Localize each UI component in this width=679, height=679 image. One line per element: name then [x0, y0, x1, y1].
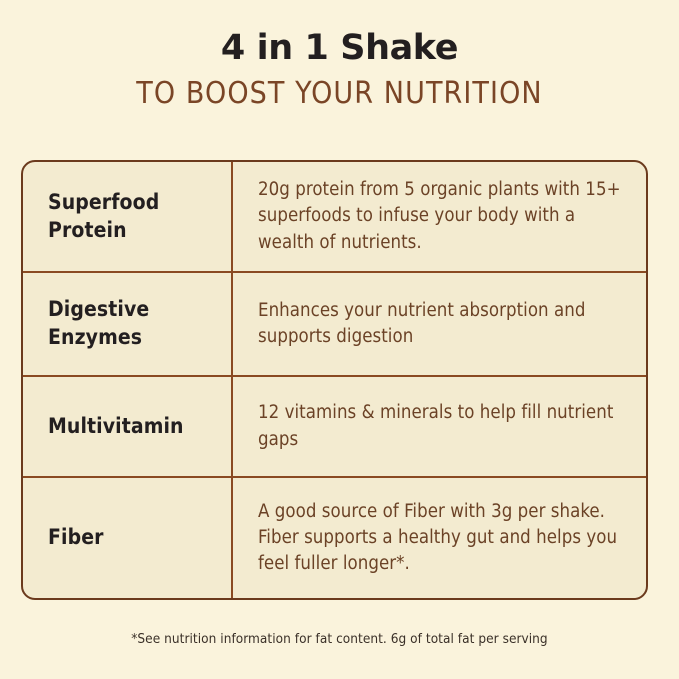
table-cell-label: Multivitamin	[23, 377, 233, 476]
table-row: DigestiveEnzymes Enhances your nutrient …	[23, 273, 646, 377]
benefit-name: DigestiveEnzymes	[48, 296, 149, 351]
benefit-name: Fiber	[48, 524, 104, 552]
benefit-name: SuperfoodProtein	[48, 189, 159, 244]
table-cell-label: DigestiveEnzymes	[23, 273, 233, 375]
header: 4 in 1 Shake TO BOOST YOUR NUTRITION	[0, 28, 679, 112]
benefit-description: 20g protein from 5 organic plants with 1…	[258, 177, 626, 256]
footnote: *See nutrition information for fat conte…	[0, 628, 679, 649]
footnote-text: *See nutrition information for fat conte…	[131, 631, 547, 647]
table-cell-label: Fiber	[23, 478, 233, 598]
table-cell-label: SuperfoodProtein	[23, 162, 233, 271]
table-row: SuperfoodProtein 20g protein from 5 orga…	[23, 162, 646, 273]
table-row: Multivitamin 12 vitamins & minerals to h…	[23, 377, 646, 478]
page-title: 4 in 1 Shake	[0, 28, 679, 69]
benefit-description: Enhances your nutrient absorption and su…	[258, 298, 626, 351]
table-row: Fiber A good source of Fiber with 3g per…	[23, 478, 646, 598]
benefit-description: 12 vitamins & minerals to help fill nutr…	[258, 400, 626, 453]
table-cell-description: A good source of Fiber with 3g per shake…	[233, 478, 646, 598]
page-subtitle: TO BOOST YOUR NUTRITION	[0, 76, 679, 112]
benefit-name: Multivitamin	[48, 413, 184, 441]
table-cell-description: 20g protein from 5 organic plants with 1…	[233, 162, 646, 271]
infographic-page: 4 in 1 Shake TO BOOST YOUR NUTRITION Sup…	[0, 0, 679, 679]
benefits-table: SuperfoodProtein 20g protein from 5 orga…	[21, 160, 648, 600]
table-cell-description: 12 vitamins & minerals to help fill nutr…	[233, 377, 646, 476]
benefit-description: A good source of Fiber with 3g per shake…	[258, 499, 626, 578]
table-cell-description: Enhances your nutrient absorption and su…	[233, 273, 646, 375]
